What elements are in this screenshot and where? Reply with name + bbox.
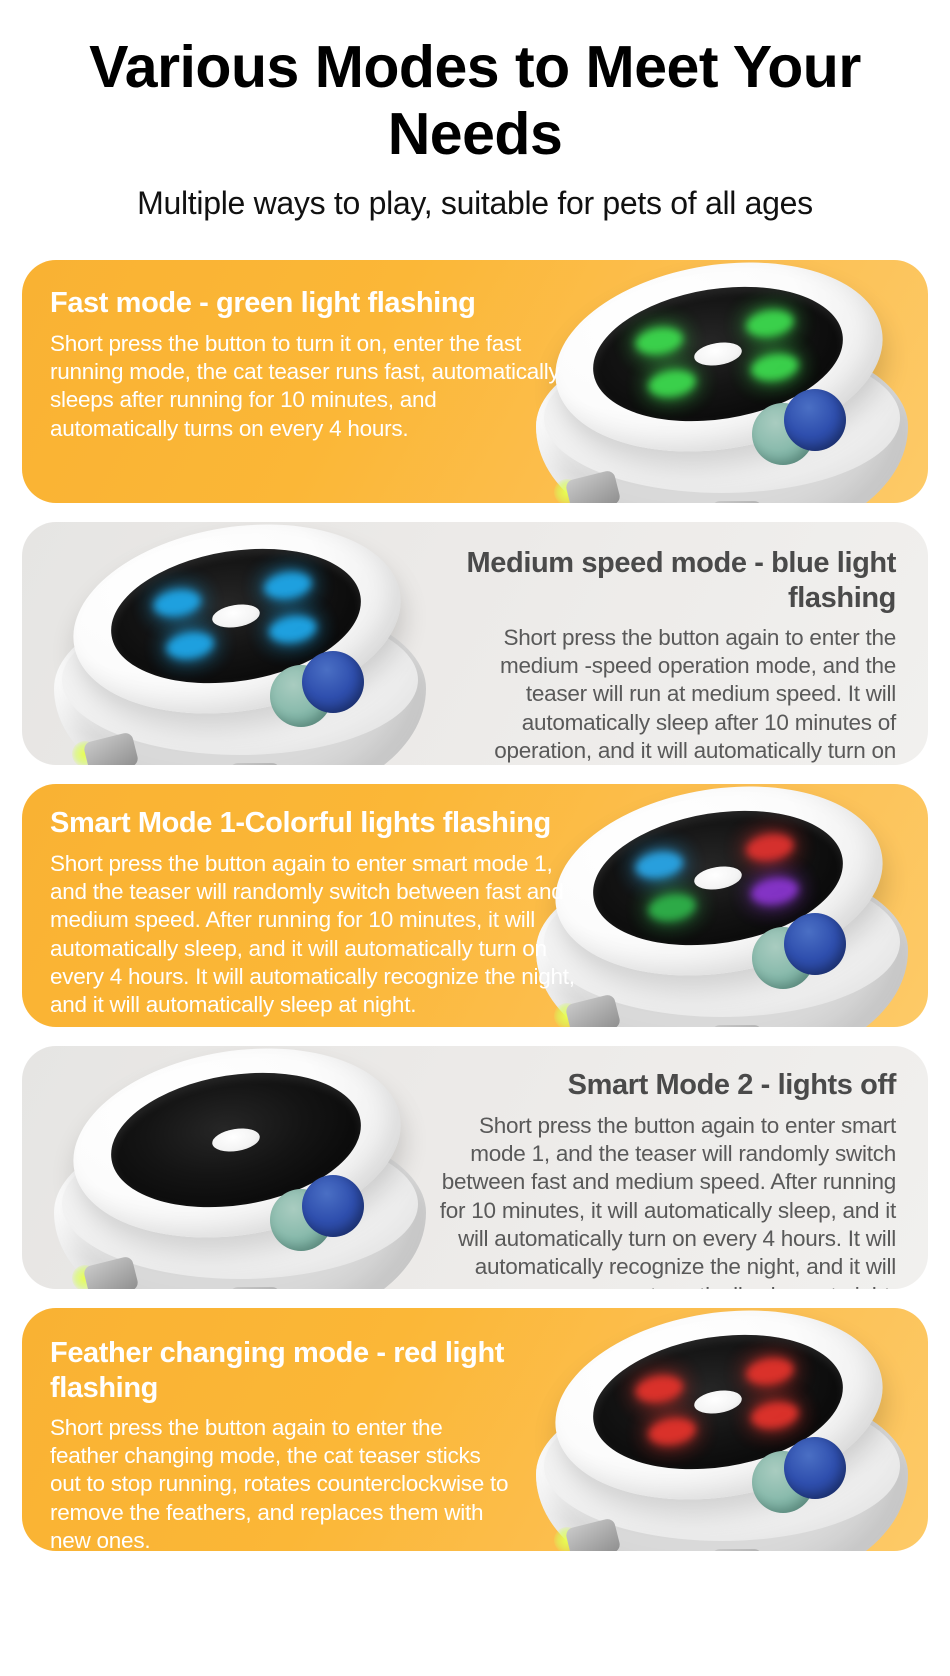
center-hole: [211, 602, 262, 631]
device-illustration-red: [514, 1308, 928, 1551]
device-foot: [230, 1287, 280, 1289]
feather-blue-part: [784, 913, 846, 975]
card-text-block: Feather changing mode - red light flashi…: [22, 1308, 542, 1551]
card-title: Fast mode - green light flashing: [50, 286, 567, 320]
led-bottom-left: [646, 1415, 697, 1448]
center-hole: [693, 1388, 744, 1417]
led-top-right: [744, 307, 795, 340]
feather-ball: [752, 385, 848, 467]
card-body: Short press the button again to enter th…: [50, 1414, 512, 1552]
card-text-block: Medium speed mode - blue light flashing …: [418, 522, 928, 765]
mode-card-medium-speed-mode: Medium speed mode - blue light flashing …: [22, 522, 928, 765]
led-top-right: [744, 831, 795, 864]
feather-ball: [270, 1171, 366, 1253]
mode-card-fast-mode: Fast mode - green light flashing Short p…: [22, 260, 928, 503]
led-top-right: [262, 569, 313, 602]
center-hole: [693, 864, 744, 893]
infographic-page: Various Modes to Meet Your Needs Multipl…: [0, 0, 950, 1676]
led-top-right: [744, 1355, 795, 1388]
feather-ball: [270, 647, 366, 729]
card-text-block: Smart Mode 1-Colorful lights flashing Sh…: [22, 784, 612, 1027]
page-header: Various Modes to Meet Your Needs Multipl…: [0, 0, 950, 222]
led-top-left: [634, 325, 685, 358]
card-title: Smart Mode 1-Colorful lights flashing: [50, 806, 582, 840]
led-bottom-right: [749, 875, 800, 908]
led-bottom-left: [164, 629, 215, 662]
mode-card-smart-mode-2: Smart Mode 2 - lights off Short press th…: [22, 1046, 928, 1289]
center-hole: [693, 340, 744, 369]
led-top-left: [634, 1373, 685, 1406]
led-top-left: [152, 587, 203, 620]
feather-ball: [752, 1433, 848, 1515]
device-illustration-lights-off: [32, 1046, 452, 1289]
card-text-block: Smart Mode 2 - lights off Short press th…: [408, 1046, 928, 1289]
device-foot: [712, 1025, 762, 1027]
feather-ball: [752, 909, 848, 991]
feather-blue-part: [302, 651, 364, 713]
mode-card-feather-changing-mode: Feather changing mode - red light flashi…: [22, 1308, 928, 1551]
mode-card-smart-mode-1: Smart Mode 1-Colorful lights flashing Sh…: [22, 784, 928, 1027]
feather-blue-part: [784, 389, 846, 451]
card-title: Smart Mode 2 - lights off: [436, 1068, 896, 1102]
card-body: Short press the button again to enter sm…: [50, 850, 582, 1020]
card-title: Feather changing mode - red light flashi…: [50, 1336, 512, 1404]
card-body: Short press the button to turn it on, en…: [50, 330, 567, 443]
led-bottom-left: [646, 891, 697, 924]
led-top-left: [634, 849, 685, 882]
feather-blue-part: [784, 1437, 846, 1499]
page-title: Various Modes to Meet Your Needs: [0, 34, 950, 167]
led-bottom-left: [646, 367, 697, 400]
card-body: Short press the button again to enter th…: [446, 624, 896, 766]
device-illustration-blue: [32, 522, 452, 765]
device-foot: [230, 763, 280, 765]
mode-card-list: Fast mode - green light flashing Short p…: [0, 260, 950, 1551]
feather-blue-part: [302, 1175, 364, 1237]
led-bottom-right: [267, 613, 318, 646]
center-hole: [211, 1126, 262, 1155]
device-foot: [712, 501, 762, 503]
led-bottom-right: [749, 351, 800, 384]
card-text-block: Fast mode - green light flashing Short p…: [22, 260, 597, 503]
page-subtitle: Multiple ways to play, suitable for pets…: [0, 185, 950, 222]
device-foot: [712, 1549, 762, 1551]
card-body: Short press the button again to enter sm…: [436, 1112, 896, 1290]
card-title: Medium speed mode - blue light flashing: [446, 546, 896, 614]
led-bottom-right: [749, 1399, 800, 1432]
